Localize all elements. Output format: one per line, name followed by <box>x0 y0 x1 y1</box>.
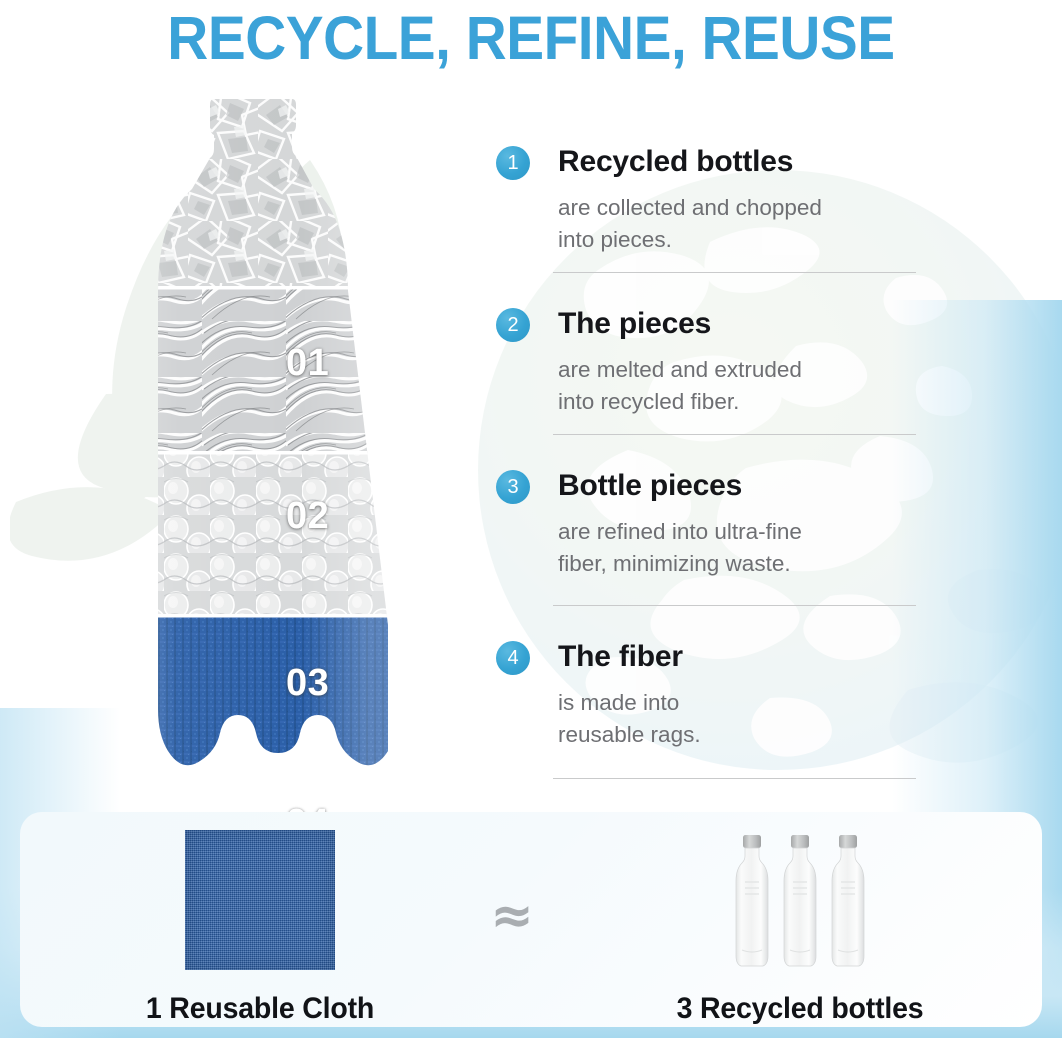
plastic-bottle-icon-2 <box>778 834 822 970</box>
step-number-badge-3: 3 <box>496 470 530 504</box>
step-title-1: Recycled bottles <box>558 145 793 179</box>
step-number-badge-2: 2 <box>496 308 530 342</box>
step-divider-2 <box>553 434 916 435</box>
comparison-left: 1 Reusable Cloth <box>80 830 440 1026</box>
step-body-1: are collected and chopped into pieces. <box>558 192 958 256</box>
plastic-bottle-icon-3 <box>826 834 870 970</box>
step-divider-1 <box>553 272 916 273</box>
step-title-2: The pieces <box>558 307 711 341</box>
bottle-band-number-02: 02 <box>286 495 329 538</box>
step-number-badge-1: 1 <box>496 146 530 180</box>
step-divider-4 <box>553 778 916 779</box>
approximately-equal-icon: ≈ <box>482 890 542 942</box>
comparison-right-label: 3 Recycled bottles <box>629 992 971 1026</box>
step-divider-3 <box>553 605 916 606</box>
bottle-band-number-01: 01 <box>286 342 329 385</box>
step-body-3: are refined into ultra-fine fiber, minim… <box>558 516 958 580</box>
step-body-4: is made into reusable rags. <box>558 687 958 751</box>
recycled-bottles-icons <box>620 830 980 970</box>
step-title-3: Bottle pieces <box>558 469 742 503</box>
step-title-4: The fiber <box>558 640 683 674</box>
comparison-right: 3 Recycled bottles <box>620 830 980 1026</box>
infographic-poster: RECYCLE, REFINE, REUSE <box>0 0 1062 1038</box>
plastic-bottle-icon-1 <box>730 834 774 970</box>
step-number-badge-4: 4 <box>496 641 530 675</box>
bottle-diagram: 01 02 03 04 <box>118 97 388 797</box>
step-body-2: are melted and extruded into recycled fi… <box>558 354 958 418</box>
comparison-panel: 1 Reusable Cloth ≈ <box>20 812 1042 1027</box>
page-title: RECYCLE, REFINE, REUSE <box>37 0 1025 72</box>
bottle-band-number-03: 03 <box>286 662 329 705</box>
reusable-cloth-swatch <box>185 830 335 970</box>
comparison-left-label: 1 Reusable Cloth <box>89 992 431 1026</box>
